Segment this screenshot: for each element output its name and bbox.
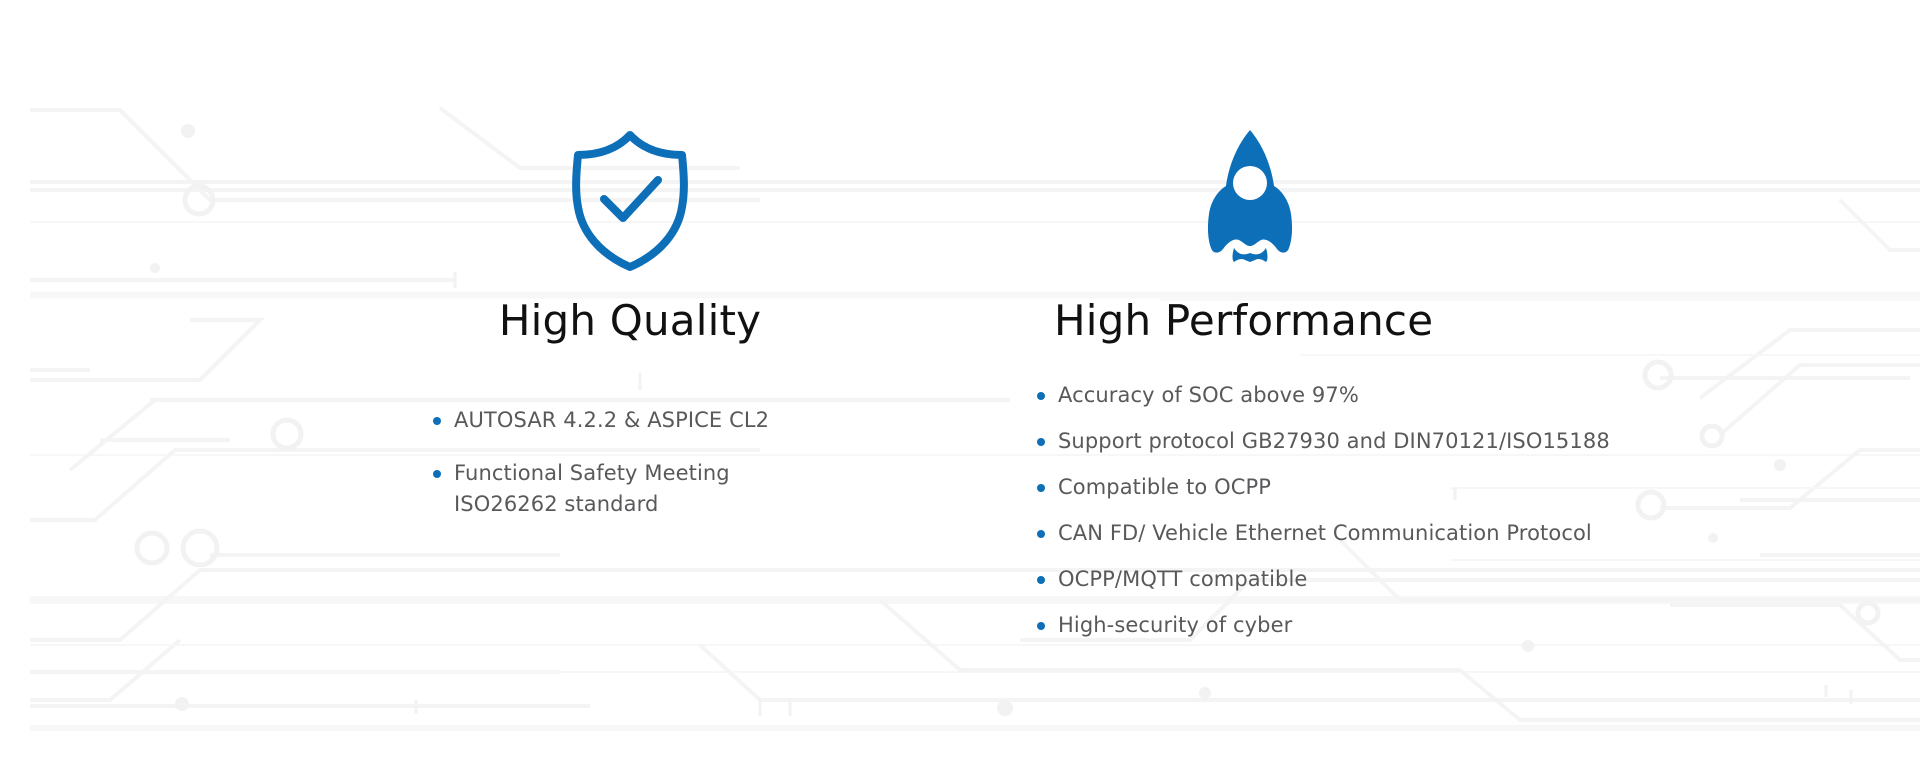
feature-list-high-performance: Accuracy of SOC above 97% Support protoc… xyxy=(1034,380,1754,641)
feature-columns: High Quality AUTOSAR 4.2.2 & ASPICE CL2 … xyxy=(0,0,1920,767)
feature-list-high-quality: AUTOSAR 4.2.2 & ASPICE CL2 Functional Sa… xyxy=(430,405,850,520)
list-item: Support protocol GB27930 and DIN70121/IS… xyxy=(1034,426,1754,457)
shield-check-icon xyxy=(330,128,930,272)
page-title-high-performance: High Performance xyxy=(950,295,1550,347)
list-item: Compatible to OCPP xyxy=(1034,472,1754,503)
list-item: AUTOSAR 4.2.2 & ASPICE CL2 xyxy=(430,405,850,436)
feature-highlights-section: High Quality AUTOSAR 4.2.2 & ASPICE CL2 … xyxy=(0,0,1920,767)
list-item: Accuracy of SOC above 97% xyxy=(1034,380,1754,411)
page-title-high-quality: High Quality xyxy=(330,295,930,347)
list-item: CAN FD/ Vehicle Ethernet Communication P… xyxy=(1034,518,1754,549)
list-item: Functional Safety Meeting ISO26262 stand… xyxy=(430,458,850,520)
list-item: OCPP/MQTT compatible xyxy=(1034,564,1754,595)
rocket-icon xyxy=(950,128,1550,264)
list-item: High-security of cyber xyxy=(1034,610,1754,641)
